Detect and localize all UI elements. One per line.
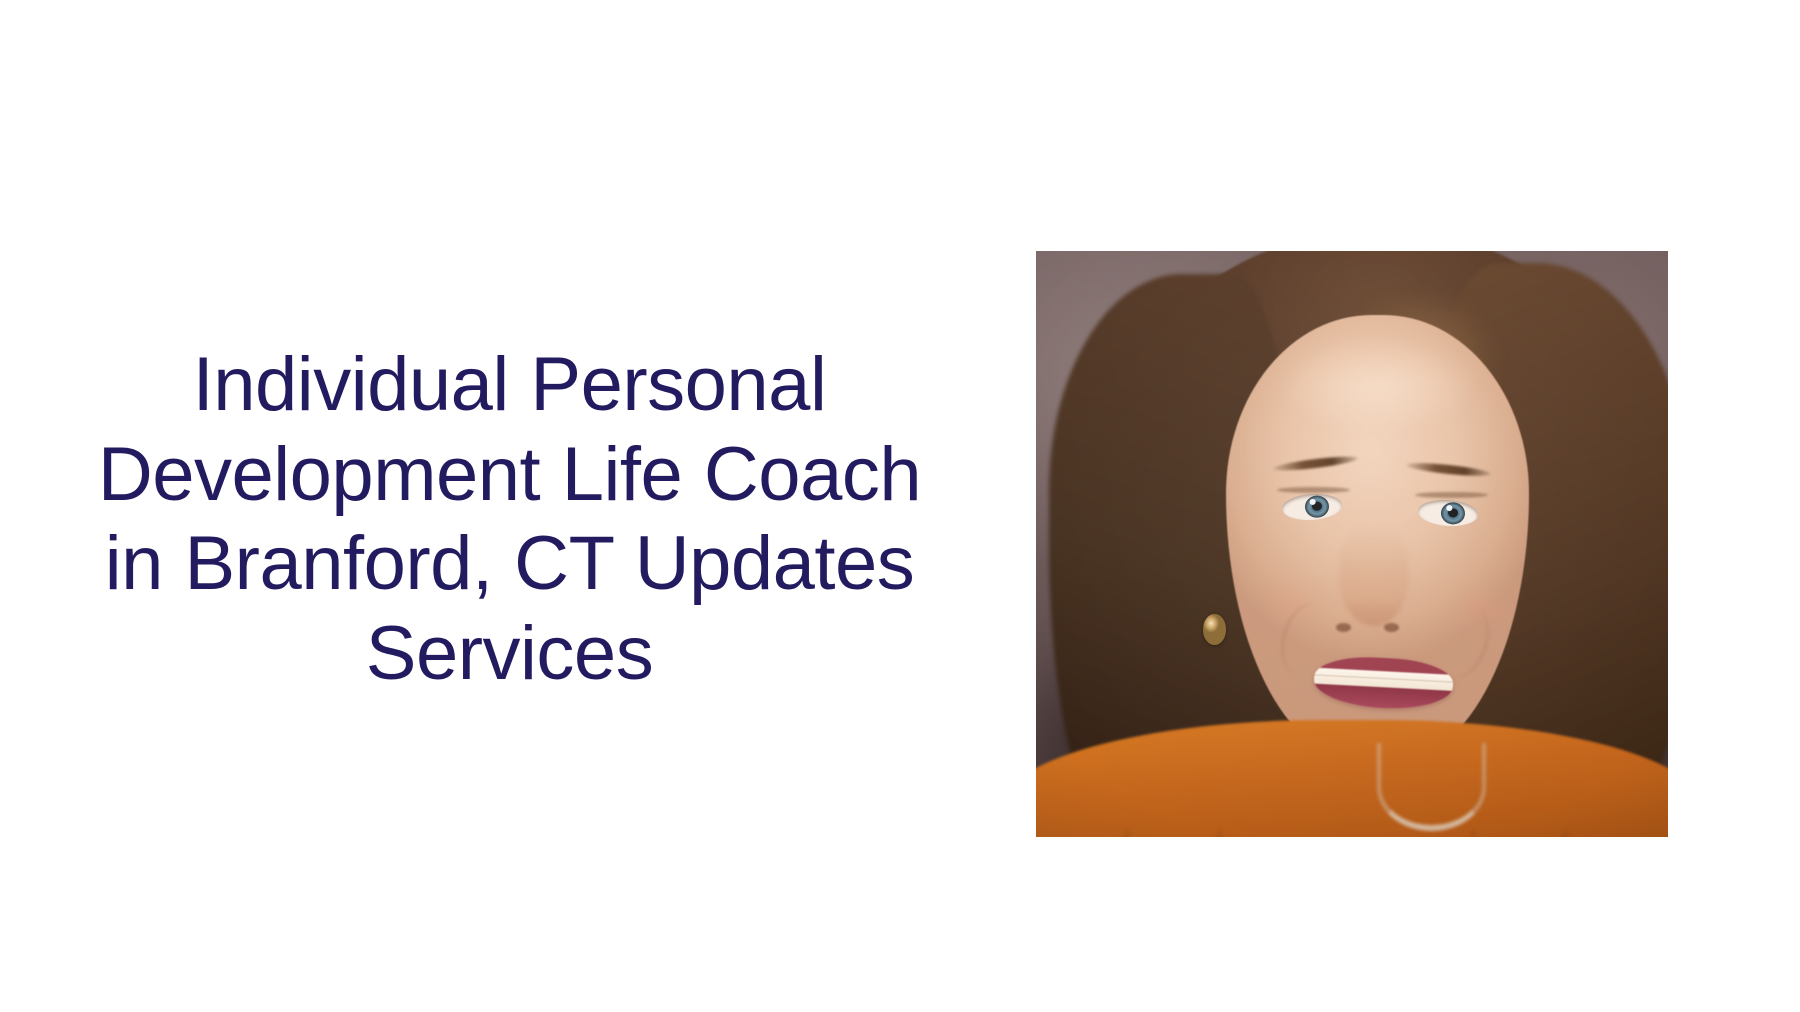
eyelid-left [1277,487,1350,493]
title-line-4: Services [366,611,653,696]
forehead-highlight [1245,321,1510,450]
iris-right [1440,501,1465,525]
page-title: Individual Personal Development Life Coa… [62,340,957,699]
title-line-1: Individual Personal [193,342,827,427]
garment-fold [1564,831,1567,837]
garment-fold [1472,831,1475,837]
slide-canvas: Individual Personal Development Life Coa… [0,0,1800,1012]
earring [1203,614,1226,644]
nostril-left [1336,623,1351,632]
slide-title-block: Individual Personal Development Life Coa… [62,340,957,699]
necklace [1377,743,1486,831]
garment-fold [1218,831,1221,837]
portrait-illustration [1036,251,1668,837]
portrait-photo [1036,251,1668,837]
title-line-3: in Branford, CT Updates [105,521,915,606]
garment-fold [1126,831,1129,837]
iris-left [1304,495,1329,519]
orange-blouse [1036,720,1668,837]
teeth-gap-line [1314,675,1453,684]
nose [1339,526,1409,626]
title-line-2: Development Life Coach [98,432,921,517]
nostril-right [1384,623,1399,632]
